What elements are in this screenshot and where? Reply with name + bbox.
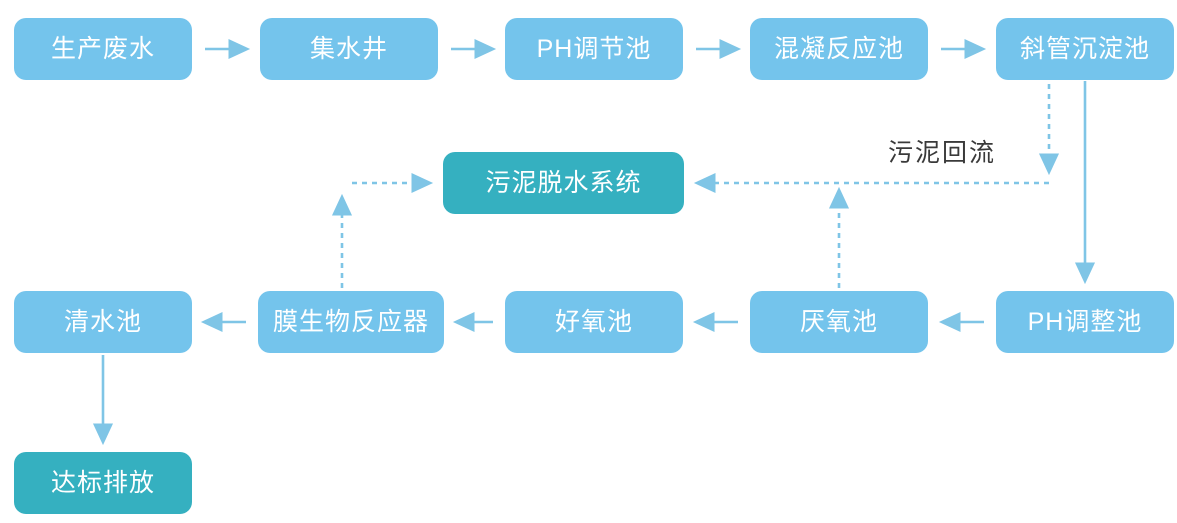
node-anaerobic-tank[interactable]: 厌氧池 bbox=[750, 291, 928, 353]
node-label: 混凝反应池 bbox=[774, 37, 904, 62]
node-ph-adjustment-tank[interactable]: PH调整池 bbox=[996, 291, 1174, 353]
node-label: 好氧池 bbox=[555, 310, 633, 335]
node-aerobic-tank[interactable]: 好氧池 bbox=[505, 291, 683, 353]
node-ph-regulation-tank[interactable]: PH调节池 bbox=[505, 18, 683, 80]
node-production-wastewater[interactable]: 生产废水 bbox=[14, 18, 192, 80]
node-label: PH调整池 bbox=[1028, 310, 1143, 335]
node-label: 厌氧池 bbox=[800, 310, 878, 335]
node-label: 集水井 bbox=[310, 37, 388, 62]
flowchart-canvas: 生产废水 集水井 PH调节池 混凝反应池 斜管沉淀池 污泥脱水系统 PH调整池 … bbox=[0, 0, 1177, 523]
node-label: 生产废水 bbox=[51, 37, 155, 62]
node-label: PH调节池 bbox=[537, 37, 652, 62]
node-sludge-dewatering-system[interactable]: 污泥脱水系统 bbox=[443, 152, 684, 214]
node-label: 污泥脱水系统 bbox=[485, 171, 641, 196]
node-compliant-discharge[interactable]: 达标排放 bbox=[14, 452, 192, 514]
node-label: 达标排放 bbox=[51, 471, 155, 496]
node-coagulation-reaction-tank[interactable]: 混凝反应池 bbox=[750, 18, 928, 80]
node-collection-well[interactable]: 集水井 bbox=[260, 18, 438, 80]
node-membrane-bioreactor[interactable]: 膜生物反应器 bbox=[258, 291, 444, 353]
node-label: 清水池 bbox=[64, 310, 142, 335]
node-label: 斜管沉淀池 bbox=[1020, 37, 1150, 62]
node-clear-water-tank[interactable]: 清水池 bbox=[14, 291, 192, 353]
edge-label-sludge-return: 污泥回流 bbox=[888, 141, 996, 166]
node-label: 膜生物反应器 bbox=[273, 310, 429, 335]
node-inclined-tube-sedimentation-tank[interactable]: 斜管沉淀池 bbox=[996, 18, 1174, 80]
